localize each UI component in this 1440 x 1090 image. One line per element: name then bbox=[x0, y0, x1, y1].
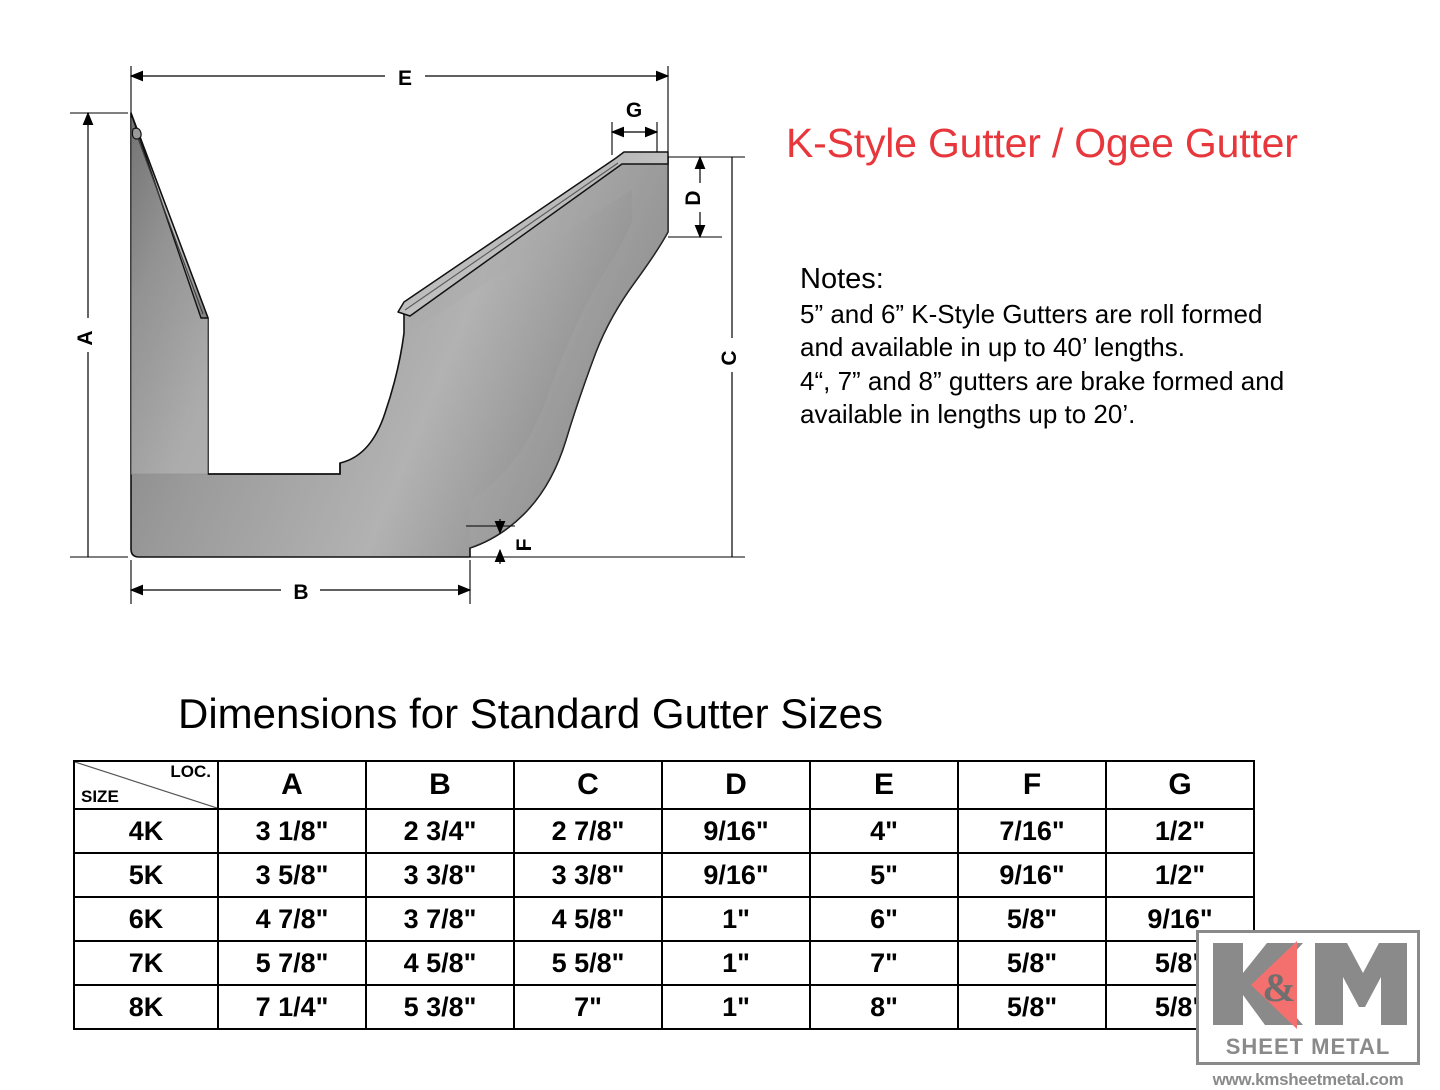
cell-4k-f: 7/16" bbox=[958, 809, 1106, 853]
table-header-row: LOC. SIZE A B C D E F G bbox=[74, 761, 1254, 809]
cell-5k-d: 9/16" bbox=[662, 853, 810, 897]
km-logo-mark: & bbox=[1205, 937, 1411, 1033]
column-header-g: G bbox=[1106, 761, 1254, 809]
row-size-7k: 7K bbox=[74, 941, 218, 985]
dimension-e: E bbox=[131, 66, 668, 152]
dimension-label-g: G bbox=[626, 99, 642, 122]
row-size-8k: 8K bbox=[74, 985, 218, 1029]
table-row: 6K 4 7/8" 3 7/8" 4 5/8" 1" 6" 5/8" 9/16" bbox=[74, 897, 1254, 941]
cell-6k-f: 5/8" bbox=[958, 897, 1106, 941]
cell-6k-e: 6" bbox=[810, 897, 958, 941]
cell-4k-a: 3 1/8" bbox=[218, 809, 366, 853]
cell-8k-c: 7" bbox=[514, 985, 662, 1029]
dimensions-table: LOC. SIZE A B C D E F G 4K 3 1/8" 2 3/4"… bbox=[73, 760, 1255, 1030]
notes-heading: Notes: bbox=[800, 262, 1420, 296]
cell-8k-b: 5 3/8" bbox=[366, 985, 514, 1029]
table-row: 7K 5 7/8" 4 5/8" 5 5/8" 1" 7" 5/8" 5/8" bbox=[74, 941, 1254, 985]
dimension-label-e: E bbox=[398, 67, 412, 90]
cell-5k-a: 3 5/8" bbox=[218, 853, 366, 897]
title-block: K-Style Gutter / Ogee Gutter bbox=[786, 122, 1426, 165]
column-header-e: E bbox=[810, 761, 958, 809]
cell-7k-c: 5 5/8" bbox=[514, 941, 662, 985]
cell-4k-b: 2 3/4" bbox=[366, 809, 514, 853]
logo-ampersand: & bbox=[1262, 965, 1295, 1010]
logo-box: & SHEET METAL bbox=[1196, 930, 1420, 1065]
cell-8k-e: 8" bbox=[810, 985, 958, 1029]
cell-4k-d: 9/16" bbox=[662, 809, 810, 853]
dimension-b: B bbox=[131, 560, 470, 604]
cell-6k-c: 4 5/8" bbox=[514, 897, 662, 941]
cell-7k-f: 5/8" bbox=[958, 941, 1106, 985]
dimension-label-d: D bbox=[682, 190, 705, 205]
cell-7k-b: 4 5/8" bbox=[366, 941, 514, 985]
dimension-g: G bbox=[612, 99, 657, 155]
logo-url: www.kmsheetmetal.com bbox=[1196, 1070, 1420, 1090]
cell-6k-b: 3 7/8" bbox=[366, 897, 514, 941]
row-size-5k: 5K bbox=[74, 853, 218, 897]
table-row: 4K 3 1/8" 2 3/4" 2 7/8" 9/16" 4" 7/16" 1… bbox=[74, 809, 1254, 853]
row-size-6k: 6K bbox=[74, 897, 218, 941]
gutter-body-shape bbox=[131, 113, 668, 557]
row-size-4k: 4K bbox=[74, 809, 218, 853]
cell-4k-c: 2 7/8" bbox=[514, 809, 662, 853]
cell-6k-d: 1" bbox=[662, 897, 810, 941]
notes-block: Notes: 5” and 6” K-Style Gutters are rol… bbox=[800, 262, 1420, 431]
cell-8k-d: 1" bbox=[662, 985, 810, 1029]
cell-5k-f: 9/16" bbox=[958, 853, 1106, 897]
note-line-1: 5” and 6” K-Style Gutters are roll forme… bbox=[800, 298, 1420, 331]
gutter-profile-svg: E G D C bbox=[0, 0, 780, 640]
note-line-4: available in lengths up to 20’. bbox=[800, 398, 1420, 431]
note-line-3: 4“, 7” and 8” gutters are brake formed a… bbox=[800, 365, 1420, 398]
table-row: 8K 7 1/4" 5 3/8" 7" 1" 8" 5/8" 5/8" bbox=[74, 985, 1254, 1029]
column-header-c: C bbox=[514, 761, 662, 809]
cell-7k-e: 7" bbox=[810, 941, 958, 985]
table-row: 5K 3 5/8" 3 3/8" 3 3/8" 9/16" 5" 9/16" 1… bbox=[74, 853, 1254, 897]
dimensions-table-wrap: LOC. SIZE A B C D E F G 4K 3 1/8" 2 3/4"… bbox=[73, 760, 1105, 1030]
table-title: Dimensions for Standard Gutter Sizes bbox=[178, 690, 883, 738]
dimension-a: A bbox=[70, 113, 128, 557]
corner-loc-label: LOC. bbox=[170, 762, 211, 782]
cell-5k-e: 5" bbox=[810, 853, 958, 897]
column-header-d: D bbox=[662, 761, 810, 809]
table-corner-header: LOC. SIZE bbox=[74, 761, 218, 809]
cell-7k-d: 1" bbox=[662, 941, 810, 985]
cell-6k-a: 4 7/8" bbox=[218, 897, 366, 941]
dimension-label-c: C bbox=[718, 350, 741, 365]
cell-8k-a: 7 1/4" bbox=[218, 985, 366, 1029]
gutter-profile-diagram: E G D C bbox=[0, 0, 780, 640]
column-header-f: F bbox=[958, 761, 1106, 809]
dimension-label-a: A bbox=[74, 330, 97, 345]
dimension-label-b: B bbox=[293, 581, 308, 604]
note-line-2: and available in up to 40’ lengths. bbox=[800, 331, 1420, 364]
company-logo: & SHEET METAL www.kmsheetmetal.com bbox=[1196, 930, 1420, 1090]
cell-7k-a: 5 7/8" bbox=[218, 941, 366, 985]
cell-5k-c: 3 3/8" bbox=[514, 853, 662, 897]
logo-letter-m bbox=[1315, 943, 1407, 1025]
cell-8k-f: 5/8" bbox=[958, 985, 1106, 1029]
page-title: K-Style Gutter / Ogee Gutter bbox=[786, 122, 1426, 165]
corner-size-label: SIZE bbox=[81, 787, 119, 807]
column-header-a: A bbox=[218, 761, 366, 809]
cell-5k-b: 3 3/8" bbox=[366, 853, 514, 897]
cell-4k-e: 4" bbox=[810, 809, 958, 853]
logo-tagline: SHEET METAL bbox=[1205, 1034, 1411, 1060]
dimension-label-f: F bbox=[513, 538, 536, 551]
column-header-b: B bbox=[366, 761, 514, 809]
cell-5k-g: 1/2" bbox=[1106, 853, 1254, 897]
dimension-d: D bbox=[668, 157, 722, 237]
cell-4k-g: 1/2" bbox=[1106, 809, 1254, 853]
